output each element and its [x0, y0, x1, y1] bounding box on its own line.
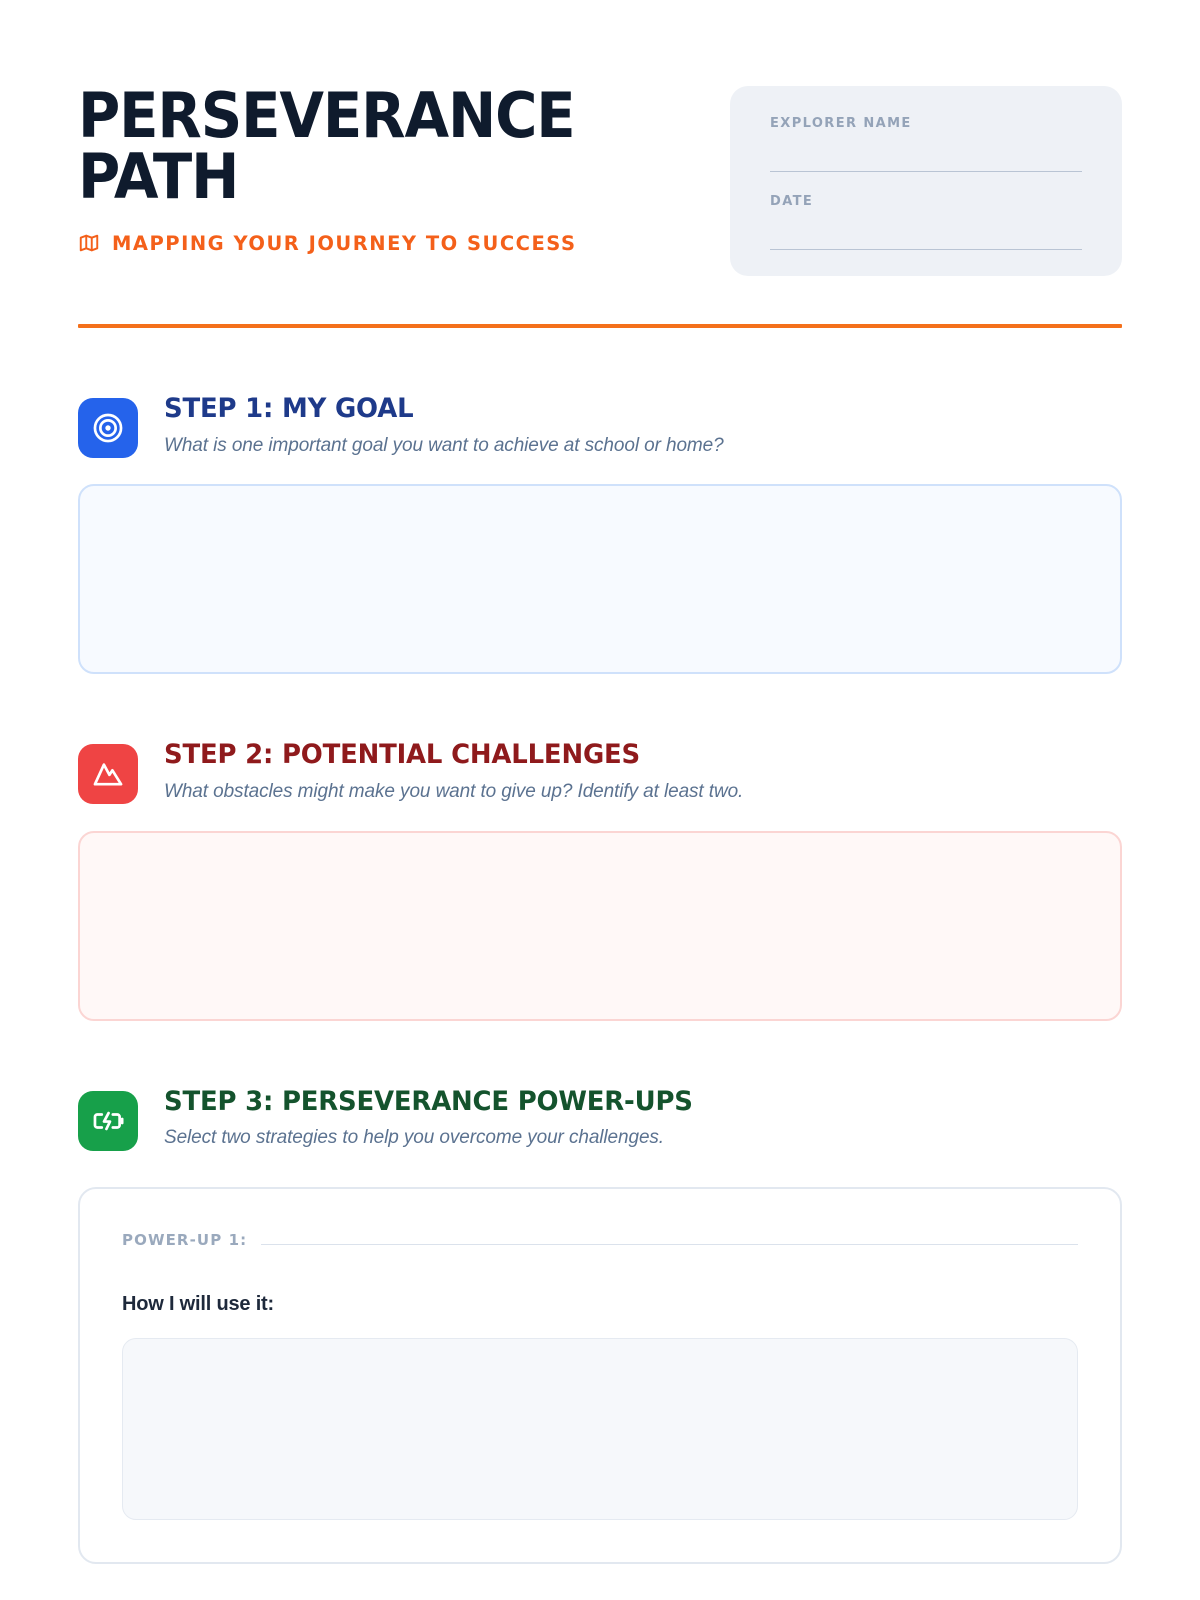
step-2-section: STEP 2: POTENTIAL CHALLENGES What obstac…: [78, 740, 1122, 1020]
page-subtitle: MAPPING YOUR JOURNEY TO SUCCESS: [112, 232, 577, 255]
powerup-card: POWER-UP 1: How I will use it:: [78, 1187, 1122, 1564]
step-1-title: STEP 1: MY GOAL: [164, 394, 701, 424]
step-3-prompt: Select two strategies to help you overco…: [164, 1125, 715, 1151]
title-block: PERSEVERANCE PATH MAPPING YOUR JOURNEY T…: [78, 86, 612, 255]
powerup-1-label: POWER-UP 1:: [122, 1231, 247, 1249]
date-input-line[interactable]: [770, 249, 1082, 250]
step-1-text-block: STEP 1: MY GOAL What is one important go…: [164, 394, 724, 458]
step-2-header: STEP 2: POTENTIAL CHALLENGES What obstac…: [78, 740, 1122, 804]
step-2-title: STEP 2: POTENTIAL CHALLENGES: [164, 740, 720, 770]
explorer-name-field[interactable]: EXPLORER NAME: [770, 116, 1082, 172]
step-1-header: STEP 1: MY GOAL What is one important go…: [78, 394, 1122, 458]
subtitle-row: MAPPING YOUR JOURNEY TO SUCCESS: [78, 232, 612, 255]
step-2-text-block: STEP 2: POTENTIAL CHALLENGES What obstac…: [164, 740, 743, 804]
header-divider: [78, 324, 1122, 328]
page-header: PERSEVERANCE PATH MAPPING YOUR JOURNEY T…: [78, 0, 1122, 276]
worksheet-page: PERSEVERANCE PATH MAPPING YOUR JOURNEY T…: [0, 0, 1200, 1600]
date-label: DATE: [770, 194, 1082, 209]
step-2-answer-box[interactable]: [78, 831, 1122, 1021]
page-title-line-2: PATH: [78, 140, 238, 213]
mountain-icon: [78, 744, 138, 804]
powerup-usage-answer-box[interactable]: [122, 1338, 1078, 1520]
explorer-info-card: EXPLORER NAME DATE: [730, 86, 1122, 276]
date-field[interactable]: DATE: [770, 194, 1082, 250]
battery-charging-icon: [78, 1091, 138, 1151]
step-1-prompt: What is one important goal you want to a…: [164, 433, 724, 459]
step-3-header: STEP 3: PERSEVERANCE POWER-UPS Select tw…: [78, 1087, 1122, 1151]
step-2-prompt: What obstacles might make you want to gi…: [164, 779, 743, 805]
powerup-1-input-line[interactable]: [261, 1244, 1078, 1245]
step-1-section: STEP 1: MY GOAL What is one important go…: [78, 394, 1122, 674]
powerup-usage-label: How I will use it:: [122, 1293, 1078, 1316]
target-icon: [78, 398, 138, 458]
explorer-name-input-line[interactable]: [770, 171, 1082, 172]
step-3-section: STEP 3: PERSEVERANCE POWER-UPS Select tw…: [78, 1087, 1122, 1564]
step-1-answer-box[interactable]: [78, 484, 1122, 674]
explorer-name-label: EXPLORER NAME: [770, 116, 1082, 131]
map-icon: [78, 232, 100, 254]
powerup-1-row: POWER-UP 1:: [122, 1231, 1078, 1249]
page-title: PERSEVERANCE PATH: [78, 86, 575, 208]
step-3-text-block: STEP 3: PERSEVERANCE POWER-UPS Select tw…: [164, 1087, 715, 1151]
step-3-title: STEP 3: PERSEVERANCE POWER-UPS: [164, 1087, 693, 1117]
